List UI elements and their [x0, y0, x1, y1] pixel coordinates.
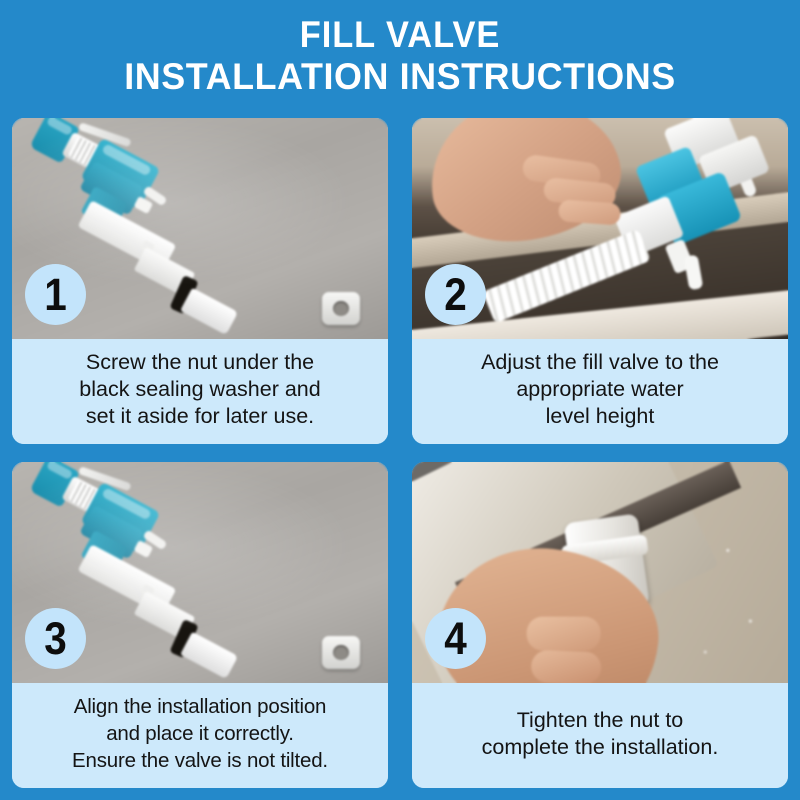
- step-badge-3: 3: [25, 608, 86, 669]
- step-number-1: 1: [44, 272, 67, 317]
- step-number-2: 2: [444, 272, 467, 317]
- step-badge-2: 2: [425, 264, 486, 325]
- step-number-3: 3: [44, 616, 67, 661]
- white-nut: [322, 636, 360, 669]
- step-card-2: 2 Adjust the fill valve to the appropria…: [412, 118, 788, 444]
- page-title: FILL VALVE INSTALLATION INSTRUCTIONS: [0, 0, 800, 98]
- step-2-photo: 2: [412, 118, 788, 339]
- step-caption-text-3: Align the installation position and plac…: [72, 693, 328, 774]
- title-line-2: INSTALLATION INSTRUCTIONS: [12, 56, 788, 98]
- black-sealing-washer: [169, 619, 198, 658]
- step-badge-1: 1: [25, 264, 86, 325]
- step-caption-text-1: Screw the nut under the black sealing wa…: [79, 349, 320, 430]
- step-caption-3: Align the installation position and plac…: [12, 683, 388, 788]
- step-caption-1: Screw the nut under the black sealing wa…: [12, 339, 388, 444]
- step-1-photo: 1: [12, 118, 388, 339]
- step-number-4: 4: [444, 616, 467, 661]
- step-caption-text-4: Tighten the nut to complete the installa…: [482, 707, 719, 761]
- step-caption-4: Tighten the nut to complete the installa…: [412, 683, 788, 788]
- steps-grid: 1 Screw the nut under the black sealing …: [12, 118, 788, 788]
- title-line-1: FILL VALVE: [28, 14, 772, 56]
- step-card-3: 3 Align the installation position and pl…: [12, 462, 388, 788]
- white-nut: [322, 292, 360, 325]
- step-badge-4: 4: [425, 608, 486, 669]
- step-3-photo: 3: [12, 462, 388, 683]
- step-4-photo: 4: [412, 462, 788, 683]
- step-card-1: 1 Screw the nut under the black sealing …: [12, 118, 388, 444]
- black-sealing-washer: [169, 275, 198, 314]
- step-caption-text-2: Adjust the fill valve to the appropriate…: [481, 349, 719, 430]
- step-card-4: 4 Tighten the nut to complete the instal…: [412, 462, 788, 788]
- step-caption-2: Adjust the fill valve to the appropriate…: [412, 339, 788, 444]
